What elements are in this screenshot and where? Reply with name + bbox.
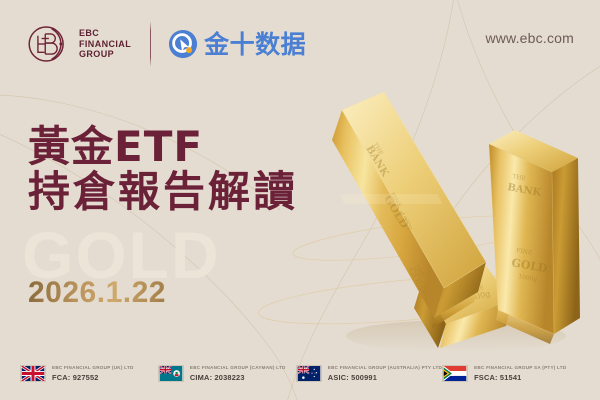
entity-name: EBC FINANCIAL GROUP SA (PTY) LTD xyxy=(474,365,566,371)
south-africa-flag-icon xyxy=(442,365,468,382)
entity-registration: FCA: 927552 xyxy=(52,373,134,383)
ebc-word-line3: GROUP xyxy=(79,49,131,60)
ebc-circular-monogram-icon xyxy=(26,22,70,66)
ebc-word-line2: FINANCIAL xyxy=(79,39,131,50)
uk-flag-icon xyxy=(20,365,46,382)
gold-bar-right: THE BANK FINE GOLD 1000g xyxy=(489,130,580,344)
entity-name: EBC FINANCIAL GROUP (UK) LTD xyxy=(52,365,134,371)
entity-name: EBC FINANCIAL GROUP (CAYMAN) LTD xyxy=(190,365,286,371)
entity-text-australia: EBC FINANCIAL GROUP (AUSTRALIA) PTY LTD … xyxy=(328,365,442,383)
entity-text-south-africa: EBC FINANCIAL GROUP SA (PTY) LTD FSCA: 5… xyxy=(474,365,566,383)
title-line-2: 持倉報告解讀 xyxy=(28,169,298,214)
entity-registration: CIMA: 2038223 xyxy=(190,373,286,383)
ebc-word-line1: EBC xyxy=(79,28,131,39)
entity-cayman: EBC FINANCIAL GROUP (CAYMAN) LTD CIMA: 2… xyxy=(158,365,296,383)
ebc-wordmark: EBC FINANCIAL GROUP xyxy=(79,28,131,61)
gold-bar-left: THE BANK FINE GOLD 1000g THE GOLD xyxy=(332,92,486,328)
cayman-islands-flag-icon xyxy=(158,365,184,382)
jinshi-logo[interactable]: 金十数据 xyxy=(168,29,306,59)
entity-south-africa: EBC FINANCIAL GROUP SA (PTY) LTD FSCA: 5… xyxy=(442,365,580,383)
website-url[interactable]: www.ebc.com xyxy=(485,30,574,46)
gold-bars-artwork: THE 1000g THE BANK FINE GOLD 1000g xyxy=(326,86,600,356)
ebc-logo[interactable]: EBC FINANCIAL GROUP xyxy=(26,22,131,66)
entity-registration: FSCA: 51541 xyxy=(474,373,566,383)
australia-flag-icon xyxy=(296,365,322,382)
page-title: 黃金ETF 持倉報告解讀 xyxy=(28,124,298,215)
jinshi-wordmark: 金十数据 xyxy=(204,32,306,57)
entity-text-uk: EBC FINANCIAL GROUP (UK) LTD FCA: 927552 xyxy=(52,365,134,383)
entity-uk: EBC FINANCIAL GROUP (UK) LTD FCA: 927552 xyxy=(20,365,158,383)
entity-australia: EBC FINANCIAL GROUP (AUSTRALIA) PTY LTD … xyxy=(296,365,442,383)
logo-divider xyxy=(150,21,151,67)
footer-regulatory-bar: EBC FINANCIAL GROUP (UK) LTD FCA: 927552 xyxy=(0,354,600,394)
entity-registration: ASIC: 500991 xyxy=(328,373,442,383)
entity-name: EBC FINANCIAL GROUP (AUSTRALIA) PTY LTD xyxy=(328,365,442,371)
title-line-1: 黃金ETF xyxy=(28,124,298,169)
jinshi-circle-cursor-icon xyxy=(168,29,198,59)
report-date: 2026.1.22 xyxy=(28,276,166,310)
entity-text-cayman: EBC FINANCIAL GROUP (CAYMAN) LTD CIMA: 2… xyxy=(190,365,286,383)
poster-canvas: THE 1000g THE BANK FINE GOLD 1000g xyxy=(0,0,600,400)
